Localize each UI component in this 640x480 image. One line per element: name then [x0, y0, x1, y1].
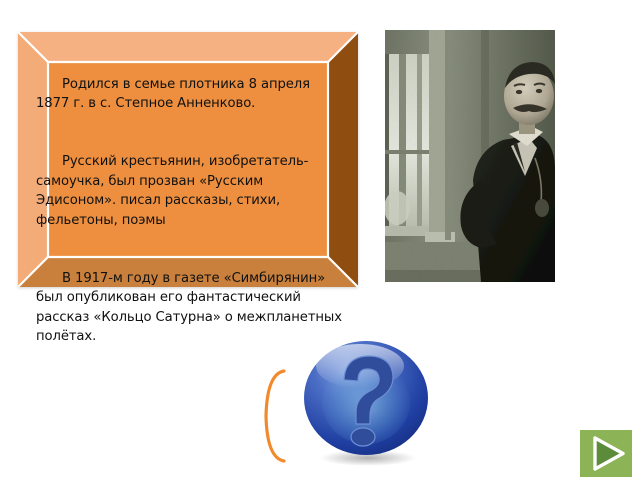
content-frame[interactable]: Родился в семье плотника 8 апреля 1877 г… [18, 32, 358, 287]
portrait-photograph-image [385, 30, 555, 282]
biography-paragraph-2: Русский крестьянин, изобретатель-самоучк… [36, 152, 342, 230]
biography-paragraph-3: В 1917-м году в газете «Симбирянин» был … [36, 269, 342, 347]
play-next-button[interactable] [580, 430, 632, 477]
portrait-photograph[interactable] [385, 30, 555, 282]
biography-paragraph-1: Родился в семье плотника 8 апреля 1877 г… [36, 75, 342, 114]
play-triangle-icon [580, 430, 632, 477]
biography-text-block: Родился в семье плотника 8 апреля 1877 г… [36, 36, 342, 385]
